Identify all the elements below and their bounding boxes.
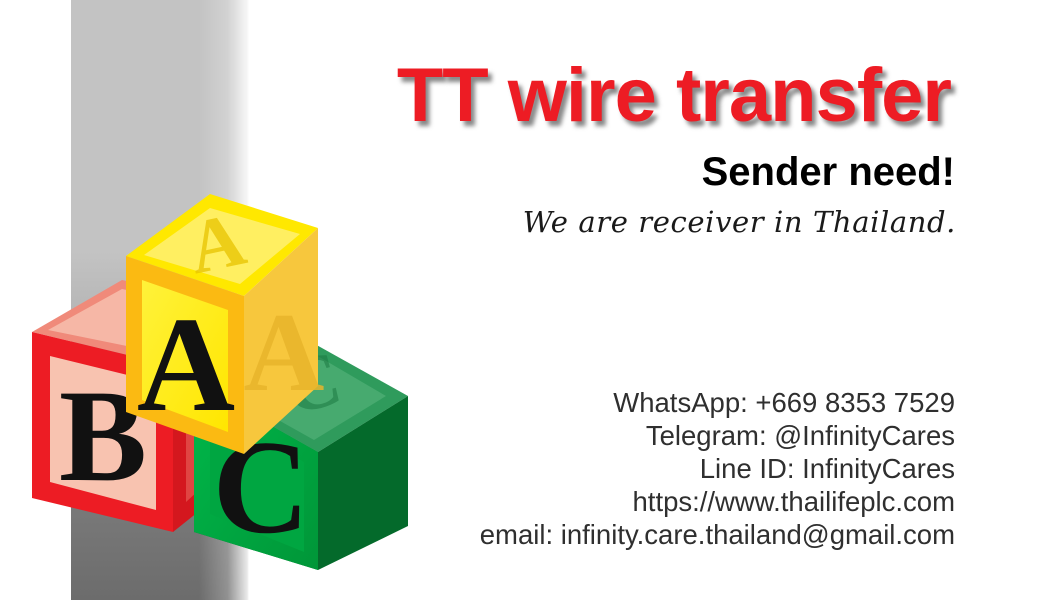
contact-details: WhatsApp: +669 8353 7529 Telegram: @Infi… — [480, 386, 955, 551]
contact-line-email[interactable]: email: infinity.care.thailand@gmail.com — [480, 518, 955, 551]
subheadline: Sender need! — [702, 152, 955, 192]
headline-title: TT wire transfer — [397, 58, 951, 134]
tagline: We are receiver in Thailand. — [523, 205, 956, 240]
svg-text:A: A — [244, 291, 325, 415]
abc-alphabet-blocks: B C C — [18, 160, 418, 580]
banner-canvas: B C C — [0, 0, 1063, 600]
contact-line-whatsapp: WhatsApp: +669 8353 7529 — [480, 386, 955, 419]
svg-text:A: A — [137, 290, 235, 440]
contact-line-telegram: Telegram: @InfinityCares — [480, 419, 955, 452]
contact-line-website[interactable]: https://www.thailifeplc.com — [480, 485, 955, 518]
contact-line-lineid: Line ID: InfinityCares — [480, 452, 955, 485]
